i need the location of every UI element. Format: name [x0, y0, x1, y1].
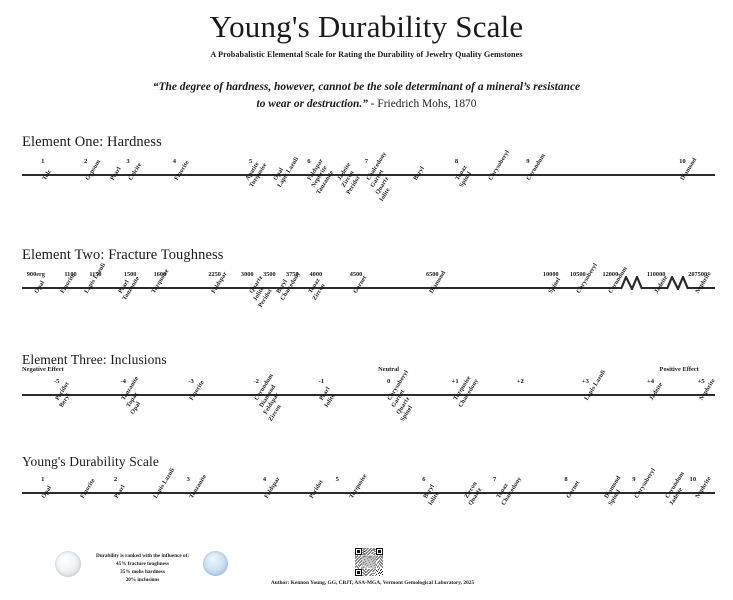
- gem-label: Tanzanite: [188, 473, 208, 499]
- axis-tick-inclusions-7: +2: [517, 378, 524, 385]
- gem-label: Chrysoberyl: [633, 467, 657, 500]
- axis-tick-durability-6: 7: [493, 476, 496, 483]
- influence-line-1: Durability is ranked with the influence …: [90, 552, 195, 560]
- axis-tick-durability-0: 1: [41, 476, 44, 483]
- influence-line-4: 20% inclusions: [90, 576, 195, 584]
- scale-title-durability: Young's Durability Scale: [22, 454, 159, 470]
- axis-cap-neutral: Neutral: [378, 366, 399, 373]
- axis-tick-toughness-6: 3000: [241, 271, 254, 278]
- axis-tick-inclusions-3: -2: [253, 378, 259, 385]
- axis-tick-durability-5: 6: [422, 476, 425, 483]
- axis-tick-inclusions-4: -1: [319, 378, 325, 385]
- axis-tick-inclusions-1: -4: [120, 378, 126, 385]
- gem-label: Peridot: [308, 479, 325, 500]
- axis-tick-hardness-9: 10: [679, 158, 686, 165]
- axis-tick-hardness-0: 1: [41, 158, 44, 165]
- scale-title-hardness: Element One: Hardness: [22, 134, 162, 151]
- axis-tick-hardness-7: 8: [455, 158, 458, 165]
- gem-label: Fluorite: [59, 272, 77, 294]
- axis-tick-inclusions-5: 0: [387, 378, 390, 385]
- infographic-page: Young's Durability Scale A Probabalistic…: [0, 0, 733, 600]
- gem-image-rough: [55, 551, 81, 577]
- influence-line-2: 45% fracture toughness: [90, 560, 195, 568]
- axis-tick-durability-2: 3: [187, 476, 190, 483]
- qr-code[interactable]: [355, 548, 383, 576]
- influence-note: Durability is ranked with the influence …: [90, 552, 195, 584]
- gem-image-polished: [203, 551, 228, 576]
- gem-label: Chrysoberyl: [487, 149, 511, 182]
- quote-attribution: - Friedrich Mohs, 1870: [368, 98, 477, 110]
- axis-tick-hardness-1: 2: [84, 158, 87, 165]
- quote-line-1: “The degree of hardness, however, cannot…: [153, 81, 580, 93]
- gem-label: Spinel: [547, 276, 562, 294]
- gem-label: Lapis Lazuli: [152, 467, 176, 500]
- gem-label: Turquoise: [348, 473, 368, 500]
- axis-cap-negative: Negative Effect: [22, 366, 64, 373]
- gem-label: Fluorite: [79, 477, 97, 499]
- gem-label: Lapis Lazuli: [583, 369, 607, 402]
- axis-tick-inclusions-9: +4: [647, 378, 654, 385]
- axis-tick-durability-7: 8: [564, 476, 567, 483]
- axis-cap-positive: Positive Effect: [660, 366, 699, 373]
- axis-tick-durability-9: 10: [690, 476, 697, 483]
- axis-tick-durability-4: 5: [336, 476, 339, 483]
- axis-tick-hardness-6: 7: [365, 158, 368, 165]
- axis-tick-hardness-2: 3: [126, 158, 129, 165]
- axis-tick-inclusions-0: -5: [54, 378, 60, 385]
- axis-tick-hardness-5: 6: [307, 158, 310, 165]
- axis-tick-durability-8: 9: [632, 476, 635, 483]
- axis-break-icon-1: [667, 276, 689, 295]
- axis-break-icon-0: [621, 276, 643, 295]
- mohs-quote: “The degree of hardness, however, cannot…: [0, 79, 733, 113]
- page-subtitle: A Probabalistic Elemental Scale for Rati…: [0, 50, 733, 59]
- axis-tick-durability-3: 4: [263, 476, 266, 483]
- gem-label: Nephrite: [694, 476, 713, 500]
- axis-tick-hardness-8: 9: [526, 158, 529, 165]
- influence-line-3: 35% mohs hardness: [90, 568, 195, 576]
- axis-tick-inclusions-6: +1: [452, 378, 459, 385]
- axis-tick-durability-1: 2: [114, 476, 117, 483]
- axis-tick-inclusions-8: +3: [582, 378, 589, 385]
- axis-tick-inclusions-10: +5: [698, 378, 705, 385]
- axis-tick-hardness-3: 4: [173, 158, 176, 165]
- gem-label: Lapis Lazuli: [83, 262, 107, 295]
- quote-line-2: to wear or destruction.”: [257, 98, 368, 110]
- scale-title-toughness: Element Two: Fracture Toughness: [22, 247, 223, 264]
- axis-tick-toughness-0: 900erg: [27, 271, 45, 278]
- page-title: Young's Durability Scale: [0, 0, 733, 45]
- author-credit: Author: Kennon Young, GG, CBJT, ASA-MGA,…: [265, 580, 480, 586]
- qr-code-icon: [355, 548, 383, 576]
- gem-label: Corundum: [525, 153, 547, 182]
- axis-tick-inclusions-2: -3: [188, 378, 194, 385]
- axis-tick-toughness-7: 3500: [263, 271, 276, 278]
- gem-label: Chrysoberyl: [575, 262, 599, 295]
